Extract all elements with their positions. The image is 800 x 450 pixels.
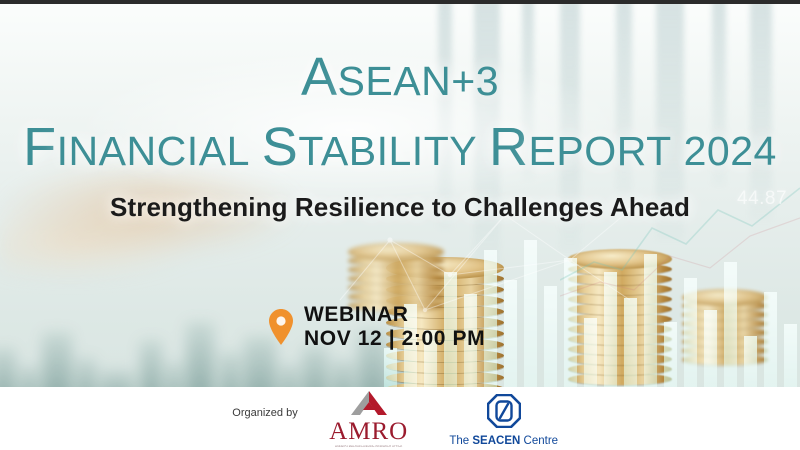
player-letterbox-bar (0, 0, 800, 4)
title-line1-initial: A (301, 47, 338, 107)
webinar-poster: 44.87 ASEAN+3 FINANCIAL STABILITY REPORT… (0, 0, 800, 450)
amro-chevron-icon (346, 390, 392, 416)
footer-bar: Organized by AMRO ASEAN+3 MACROECONOMIC … (0, 387, 800, 450)
title-year: 2024 (684, 128, 777, 174)
webinar-label: WEBINAR (304, 303, 485, 327)
headline-block: ASEAN+3 FINANCIAL STABILITY REPORT 2024 (0, 50, 800, 174)
poster-subtitle: Strengthening Resilience to Challenges A… (0, 192, 800, 223)
title-financial-rest: INANCIAL (57, 128, 250, 174)
title-line-2: FINANCIAL STABILITY REPORT 2024 (0, 120, 800, 174)
seacen-wordmark: The SEACEN Centre (440, 435, 568, 447)
organized-by-label: Organized by (232, 407, 297, 419)
title-stability-initial: S (262, 117, 299, 177)
title-financial-initial: F (23, 117, 57, 177)
seacen-name: SEACEN (472, 435, 520, 447)
amro-logo: AMRO ASEAN+3 MACROECONOMIC RESEARCH OFFI… (316, 390, 422, 448)
location-pin-icon (268, 308, 294, 346)
title-report-rest: EPORT (529, 128, 672, 174)
title-stability-rest: TABILITY (298, 128, 477, 174)
seacen-octagon-icon (487, 394, 521, 428)
seacen-logo: The SEACEN Centre (440, 394, 568, 447)
title-line-1: ASEAN+3 (0, 50, 800, 104)
webinar-datetime: NOV 12 | 2:00 PM (304, 327, 485, 351)
title-line1-rest: SEAN+3 (338, 58, 500, 104)
amro-wordmark: AMRO (316, 420, 422, 444)
amro-tagline: ASEAN+3 MACROECONOMIC RESEARCH OFFICE (316, 445, 422, 449)
title-report-initial: R (489, 117, 529, 177)
seacen-suffix: Centre (520, 435, 558, 447)
webinar-info-block: WEBINAR NOV 12 | 2:00 PM (268, 303, 485, 350)
seacen-prefix: The (449, 435, 472, 447)
webinar-text: WEBINAR NOV 12 | 2:00 PM (304, 303, 485, 350)
